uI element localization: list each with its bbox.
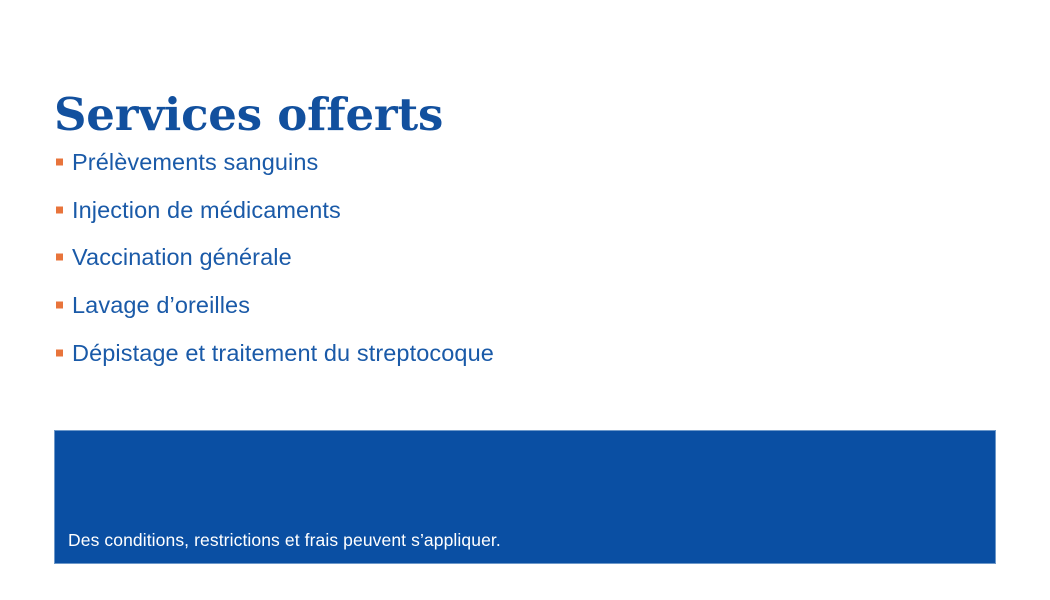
list-item-label: Lavage d’oreilles	[72, 291, 250, 319]
disclaimer-banner: Des conditions, restrictions et frais pe…	[54, 430, 996, 564]
square-bullet-icon	[56, 301, 63, 308]
square-bullet-icon	[56, 206, 63, 213]
list-item: Dépistage et traitement du streptocoque	[54, 329, 954, 377]
page-title: Services offerts	[54, 88, 443, 142]
list-item-label: Dépistage et traitement du streptocoque	[72, 339, 494, 367]
list-item: Vaccination générale	[54, 233, 954, 281]
list-item: Injection de médicaments	[54, 186, 954, 234]
disclaimer-text: Des conditions, restrictions et frais pe…	[68, 528, 501, 552]
list-item-label: Injection de médicaments	[72, 196, 341, 224]
slide-canvas: Services offerts Prélèvements sanguins I…	[0, 0, 1050, 600]
square-bullet-icon	[56, 254, 63, 261]
list-item: Lavage d’oreilles	[54, 281, 954, 329]
list-item-label: Prélèvements sanguins	[72, 148, 318, 176]
list-item: Prélèvements sanguins	[54, 138, 954, 186]
list-item-label: Vaccination générale	[72, 243, 292, 271]
square-bullet-icon	[56, 349, 63, 356]
services-bullet-list: Prélèvements sanguins Injection de médic…	[54, 138, 954, 376]
square-bullet-icon	[56, 158, 63, 165]
